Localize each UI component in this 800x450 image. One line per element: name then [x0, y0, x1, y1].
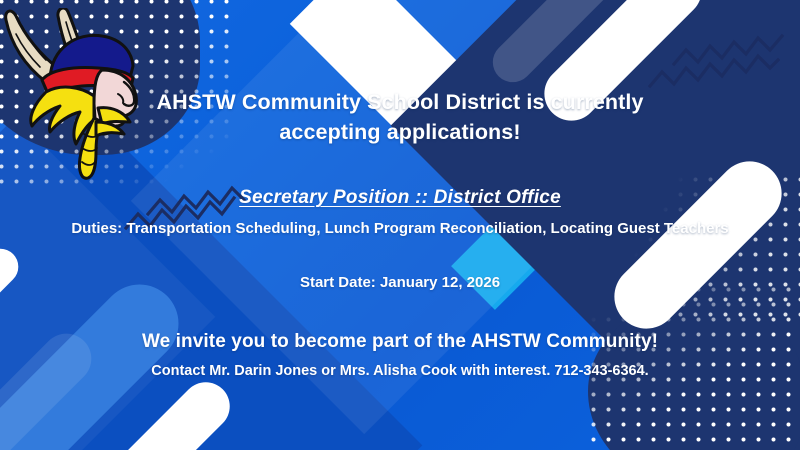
poster-content: AHSTW Community School District is curre…: [0, 0, 800, 450]
job-duties: Duties: Transportation Scheduling, Lunch…: [40, 218, 760, 241]
job-title: Secretary Position :: District Office: [239, 187, 561, 209]
contact-info: Contact Mr. Darin Jones or Mrs. Alisha C…: [151, 363, 648, 379]
poster-canvas: AHSTW Community School District is curre…: [0, 0, 800, 450]
page-title: AHSTW Community School District is curre…: [120, 88, 680, 147]
start-date: Start Date: January 12, 2026: [300, 274, 500, 291]
invitation-text: We invite you to become part of the AHST…: [142, 331, 658, 353]
